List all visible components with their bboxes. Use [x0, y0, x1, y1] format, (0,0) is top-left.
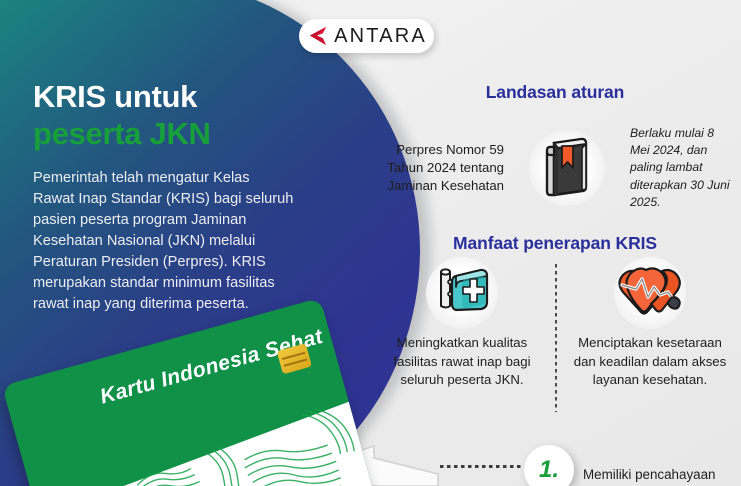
- bottom-item-number: 1.: [539, 456, 559, 484]
- landasan-regulation-text: Perpres Nomor 59 Tahun 2024 tentang Jami…: [378, 141, 504, 196]
- isometric-room-icon: [360, 440, 446, 486]
- heart-pulse-icon: [566, 260, 734, 326]
- indonesia-map-fingerprint-icon: [119, 384, 377, 486]
- landasan-row: Perpres Nomor 59 Tahun 2024 tentang Jami…: [378, 118, 734, 218]
- antara-logo[interactable]: ANTARA: [299, 19, 434, 53]
- hero-block: KRIS untuk peserta JKN Pemerintah telah …: [33, 80, 323, 314]
- bottom-item-text: Memiliki pencahayaan: [583, 466, 716, 484]
- benefit-text-2: Menciptakan kesetaraan dan keadilan dala…: [566, 334, 734, 390]
- dotted-connector-icon: [440, 465, 524, 468]
- hero-title-line-2: peserta JKN: [33, 117, 323, 152]
- hero-body-text: Pemerintah telah mengatur Kelas Rawat In…: [33, 168, 295, 314]
- hero-title-line-1: KRIS untuk: [33, 80, 323, 115]
- book-icon: [525, 126, 609, 210]
- infographic-canvas: ANTARA KRIS untuk peserta JKN Pemerintah…: [0, 0, 741, 486]
- landasan-effective-date-text: Berlaku mulai 8 Mei 2024, dan paling lam…: [630, 125, 734, 210]
- manfaat-row: Meningkatkan kualitas fasilitas rawat in…: [378, 260, 734, 422]
- antara-wordmark: ANTARA: [334, 25, 427, 48]
- benefit-divider: [546, 260, 566, 422]
- medical-cross-sign-icon: [378, 260, 546, 326]
- manfaat-heading: Manfaat penerapan KRIS: [380, 233, 730, 254]
- landasan-heading: Landasan aturan: [380, 82, 730, 103]
- antara-triangle-logo-icon: [306, 26, 328, 46]
- benefit-item-2: Menciptakan kesetaraan dan keadilan dala…: [566, 260, 734, 390]
- benefit-item-1: Meningkatkan kualitas fasilitas rawat in…: [378, 260, 546, 390]
- benefit-text-1: Meningkatkan kualitas fasilitas rawat in…: [378, 334, 546, 390]
